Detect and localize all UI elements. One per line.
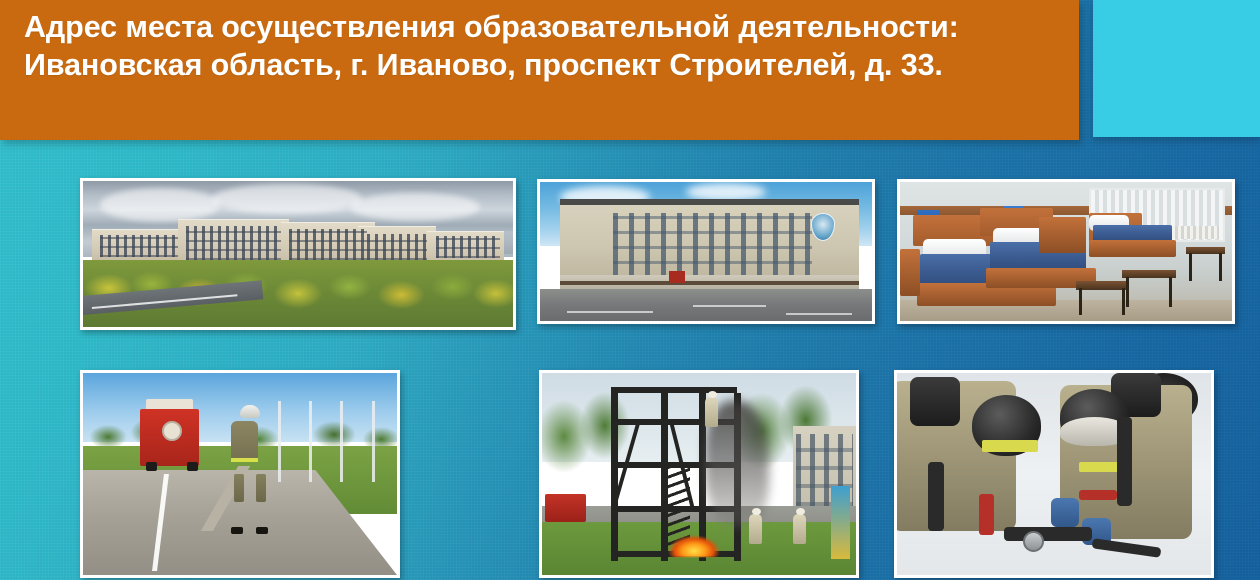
- fence-post: [372, 401, 375, 482]
- page-title: Адрес места осуществления образовательно…: [24, 9, 1057, 85]
- air-hose: [928, 462, 944, 531]
- breathing-apparatus: [910, 377, 960, 425]
- reflective-stripe: [231, 458, 258, 462]
- photo-training-tower[interactable]: Учебная пожарная башня: металлическая ко…: [539, 370, 859, 578]
- firefighter-helmet: [240, 405, 260, 418]
- parking-marking: [786, 313, 852, 315]
- firefighter-boot: [256, 527, 268, 534]
- window-grid: [367, 234, 427, 260]
- photo-firefighters-snow-scene: [897, 373, 1211, 575]
- harness-strap: [1079, 490, 1117, 500]
- photo-dorm-room[interactable]: Комната общежития: кровати с деревянными…: [897, 179, 1235, 324]
- harness-strap: [979, 494, 995, 534]
- stool-leg: [1126, 277, 1129, 308]
- photo-firefighter-hose[interactable]: Пожарный в боевой одежде бежит по дороге…: [80, 370, 400, 578]
- fence-trim: [560, 281, 859, 285]
- bed-frame: [1089, 240, 1175, 257]
- stool-leg: [1079, 288, 1082, 316]
- tower-column: [611, 387, 618, 561]
- fire-flames: [668, 527, 720, 557]
- stool-leg: [1219, 253, 1222, 281]
- photo-dorm-building-scene: [540, 182, 872, 321]
- hose-coupling: [1023, 531, 1044, 552]
- firefighter-boot: [231, 527, 243, 534]
- window-grid: [289, 229, 366, 260]
- cloud-shape: [350, 193, 480, 221]
- fire-truck-wheel: [146, 462, 157, 471]
- firefighter-body: [231, 421, 258, 461]
- photo-campus-panorama-scene: [83, 181, 513, 327]
- fire-hose: [196, 466, 259, 531]
- air-hose: [1117, 417, 1133, 506]
- photo-firefighter-hose-scene: [83, 373, 397, 575]
- photo-dorm-building[interactable]: Бежевое многоэтажное здание общежития с …: [537, 179, 875, 324]
- wall-plaque: [669, 271, 685, 283]
- info-banner: [831, 486, 850, 559]
- reflective-stripe: [982, 440, 1039, 452]
- stool-seat: [1076, 281, 1129, 291]
- stool-seat: [1122, 270, 1175, 278]
- window-grid: [436, 236, 501, 258]
- firefighter-ground: [749, 514, 762, 544]
- firefighter-ground: [793, 514, 806, 544]
- accent-block: [1093, 0, 1260, 137]
- fence-post: [309, 401, 312, 482]
- parking-marking: [693, 305, 766, 307]
- photo-firefighters-snow[interactable]: Двое пожарных в касках и дыхательных апп…: [894, 370, 1214, 578]
- firefighter-glove: [1051, 498, 1079, 526]
- firefighter-leg: [234, 474, 244, 502]
- firefighter-on-tower: [705, 397, 718, 427]
- fire-truck-emblem: [162, 421, 182, 441]
- parking-marking: [567, 311, 653, 313]
- title-banner: Адрес места осуществления образовательно…: [0, 0, 1079, 140]
- window-grid: [613, 213, 812, 280]
- cloud-shape: [212, 184, 362, 214]
- fire-hose: [1004, 527, 1092, 541]
- stool-leg: [1169, 277, 1172, 308]
- window-grid: [100, 235, 177, 257]
- stool-leg: [1189, 253, 1192, 281]
- photo-campus-panorama[interactable]: Панорамный вид учебного корпуса с высоты…: [80, 178, 516, 330]
- photo-dorm-room-scene: [900, 182, 1232, 321]
- fence-post: [278, 401, 281, 482]
- presentation-slide: Адрес места осуществления образовательно…: [0, 0, 1260, 580]
- fence-post: [340, 401, 343, 482]
- nightstand: [900, 249, 920, 296]
- nightstand: [1039, 217, 1085, 253]
- photo-training-tower-scene: [542, 373, 856, 575]
- fire-truck: [545, 494, 586, 522]
- tower-beam: [611, 387, 737, 393]
- firefighter-leg: [256, 474, 266, 502]
- window-grid: [186, 226, 281, 260]
